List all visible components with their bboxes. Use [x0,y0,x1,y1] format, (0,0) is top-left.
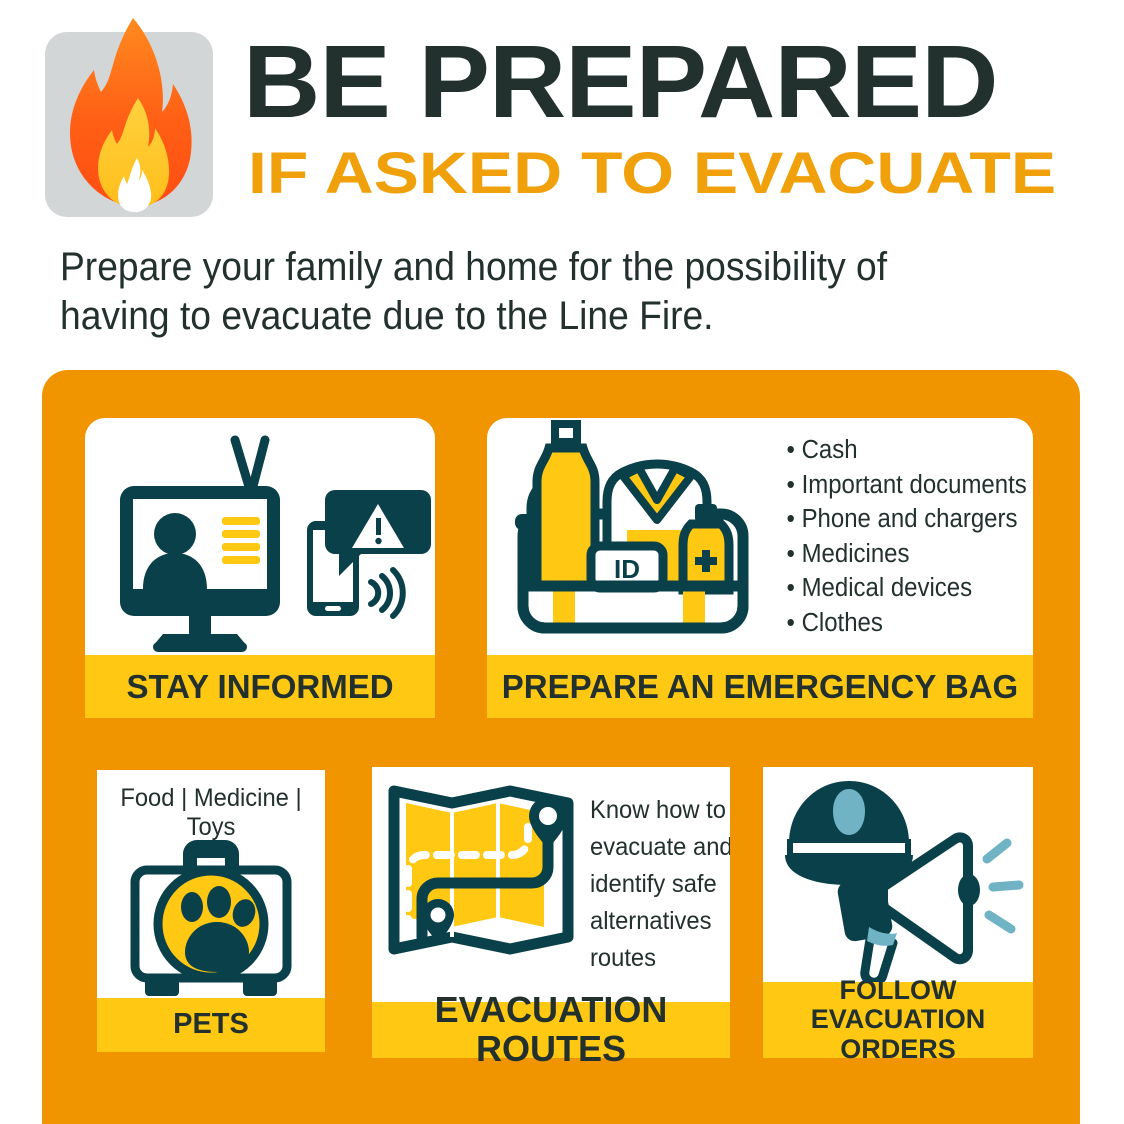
list-item: • Cash [787,433,1027,468]
card-evacuation-routes-banner: EVACUATION ROUTES [372,1002,730,1058]
note-line: evacuate and [590,829,730,866]
card-follow-evacuation-orders-art [763,767,1033,982]
infographic-page: BE PREPARED IF ASKED TO EVACUATE Prepare… [0,0,1124,1124]
card-stay-informed-banner: STAY INFORMED [85,655,435,718]
page-title: BE PREPARED [243,28,1124,140]
card-stay-informed-art [85,418,435,655]
banner-line-1: FOLLOW EVACUATION [811,975,986,1034]
list-item: • Medical devices [787,571,1027,606]
card-stay-informed[interactable]: STAY INFORMED [85,418,435,718]
lede-paragraph: Prepare your family and home for the pos… [60,243,999,341]
card-evacuation-routes[interactable]: Know how to evacuate and identify safe a… [372,767,730,1058]
evacuation-routes-note: Know how to evacuate and identify safe a… [590,792,730,977]
card-follow-evacuation-orders[interactable]: FOLLOW EVACUATION ORDERS [763,767,1033,1058]
note-line: identify safe [590,866,730,903]
note-line: routes [590,940,730,977]
list-item: • Important documents [787,468,1027,503]
header: BE PREPARED IF ASKED TO EVACUATE [0,0,1124,230]
card-evacuation-routes-art: Know how to evacuate and identify safe a… [372,767,730,1002]
card-emergency-bag[interactable]: ID • Cash • Important [487,418,1033,718]
card-pets-banner: PETS [97,998,325,1052]
card-emergency-bag-art: ID • Cash • Important [487,418,1033,655]
list-item: • Phone and chargers [787,502,1027,537]
list-item: • Clothes [787,606,1027,641]
note-line: Know how to [590,792,730,829]
banner-line-2: ORDERS [840,1034,956,1064]
card-pets[interactable]: Food | Medicine | Toys PETS [97,770,325,1052]
emergency-bag-item-list: • Cash • Important documents • Phone and… [779,433,1033,640]
flame-icon [45,10,213,220]
tv-and-phone-alert-icon [85,418,435,655]
police-cap-megaphone-icon [763,767,1033,982]
page-subtitle: IF ASKED TO EVACUATE [248,144,1124,206]
emergency-bag-icon: ID [487,418,779,655]
note-line: alternatives [590,903,730,940]
svg-text:ID: ID [614,554,640,584]
card-follow-evacuation-orders-banner: FOLLOW EVACUATION ORDERS [763,982,1033,1058]
list-item: • Medicines [787,537,1027,572]
card-emergency-bag-banner: PREPARE AN EMERGENCY BAG [487,655,1033,718]
pet-carrier-icon [97,810,325,998]
folded-map-route-icon [372,767,590,967]
card-pets-art: Food | Medicine | Toys [97,770,325,998]
